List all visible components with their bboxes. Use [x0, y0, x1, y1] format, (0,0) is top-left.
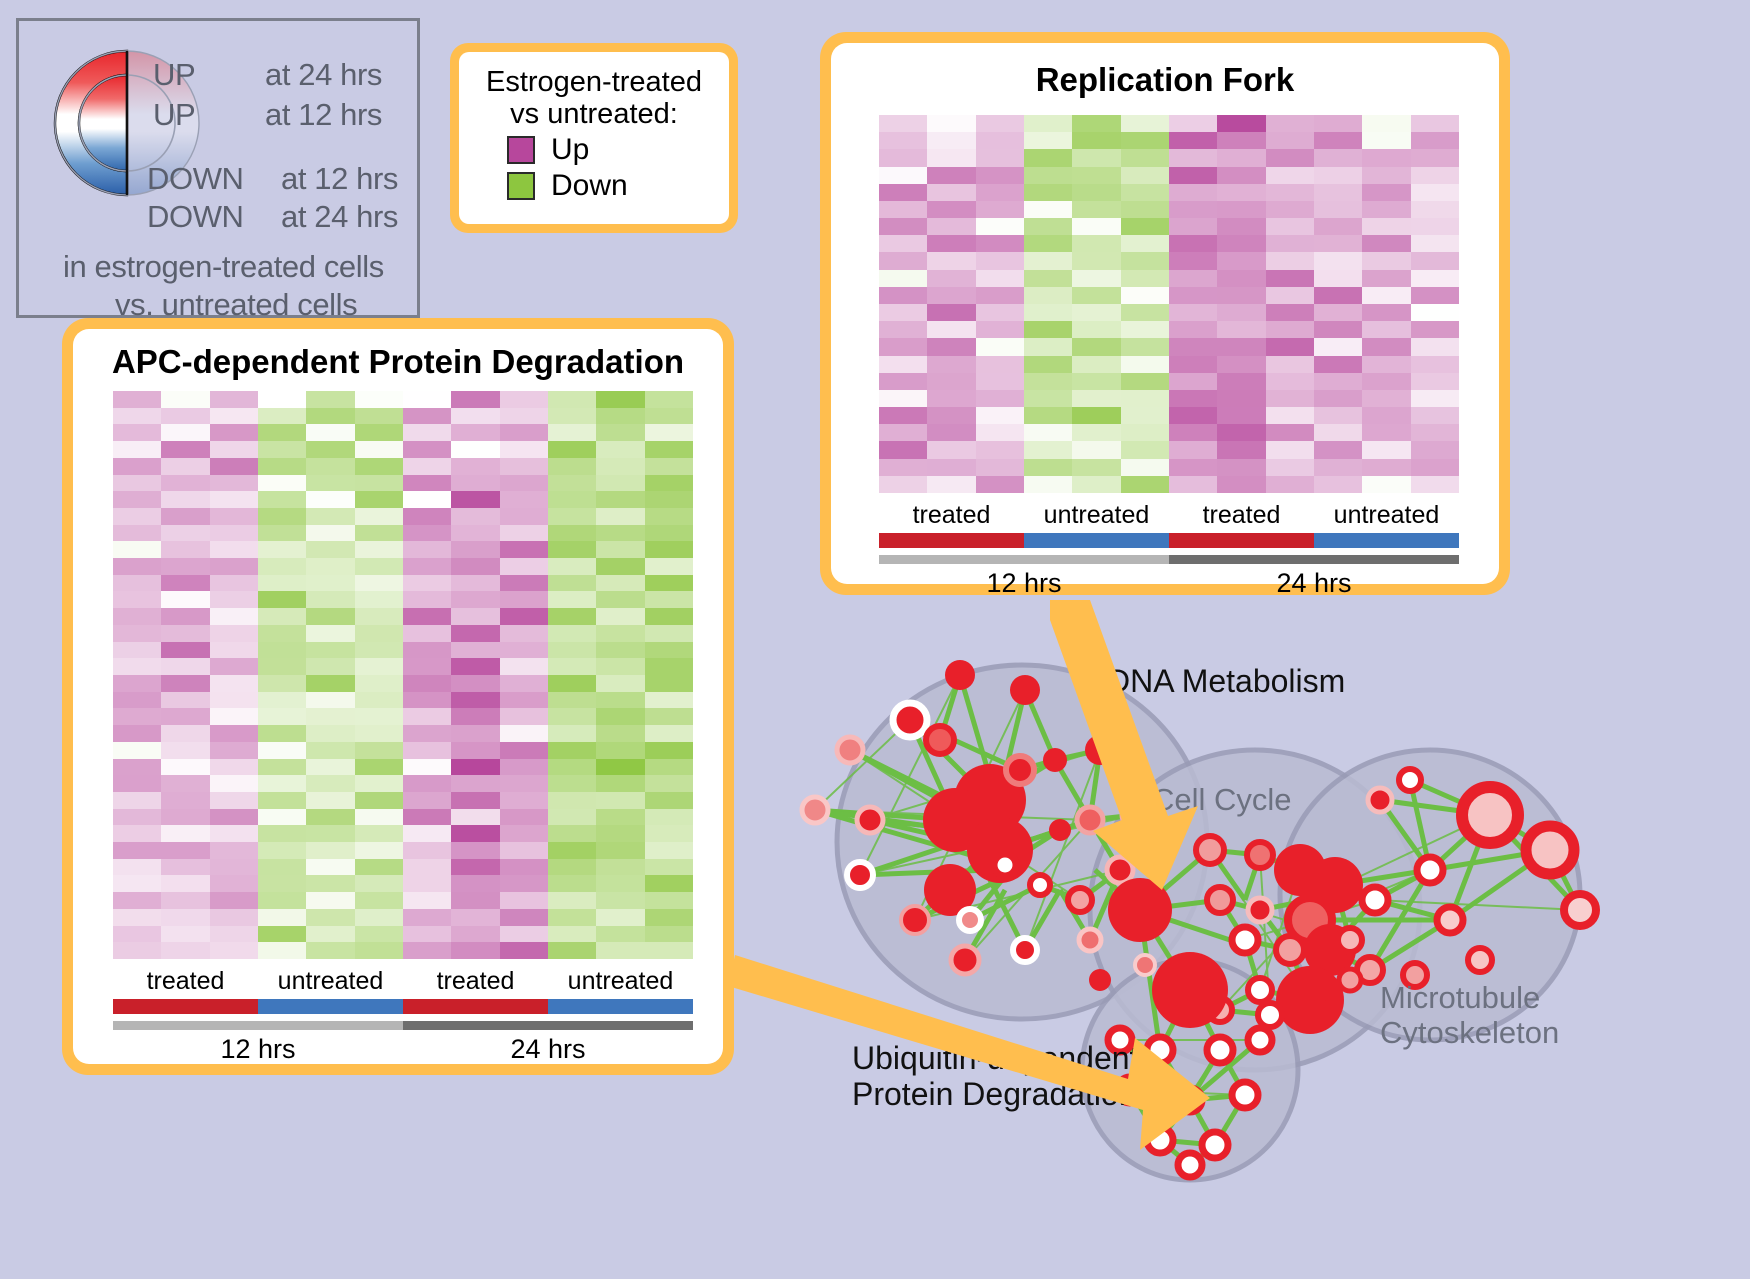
heat-cell: [451, 558, 499, 575]
heat-cell: [258, 692, 306, 709]
heat-cell: [879, 218, 927, 235]
heat-cell: [1217, 270, 1265, 287]
heat-cell: [403, 591, 451, 608]
heat-cell: [113, 909, 161, 926]
heat-cell: [113, 926, 161, 943]
apc-time-12: [113, 1021, 403, 1030]
replication-fork-panel: Replication Fork treated untreated treat…: [820, 32, 1510, 595]
heat-cell: [1411, 287, 1459, 304]
heat-cell: [500, 675, 548, 692]
heat-cell: [161, 792, 209, 809]
heat-cell: [548, 424, 596, 441]
heat-cell: [113, 725, 161, 742]
heat-cell: [451, 642, 499, 659]
heat-cell: [645, 491, 693, 508]
heat-cell: [1169, 441, 1217, 458]
heat-cell: [548, 458, 596, 475]
heat-cell: [1411, 459, 1459, 476]
apc-condition-bar: [113, 999, 693, 1014]
heat-cell: [306, 875, 354, 892]
heat-cell: [355, 725, 403, 742]
heat-cell: [1072, 356, 1120, 373]
heat-cell: [927, 167, 975, 184]
heat-cell: [1121, 459, 1169, 476]
heat-cell: [403, 541, 451, 558]
heat-cell: [258, 424, 306, 441]
replication-fork-annotation: treated untreated treated untreated 12 h…: [879, 501, 1459, 599]
heat-cell: [355, 575, 403, 592]
heat-cell: [976, 424, 1024, 441]
heat-cell: [113, 391, 161, 408]
heat-cell: [306, 926, 354, 943]
heat-cell: [596, 742, 644, 759]
heat-cell: [355, 675, 403, 692]
heat-cell: [1362, 373, 1410, 390]
heat-cell: [548, 575, 596, 592]
heat-cell: [1072, 459, 1120, 476]
heat-cell: [596, 391, 644, 408]
heat-cell: [1362, 149, 1410, 166]
apc-sample-label-0: treated: [113, 967, 258, 996]
heat-cell: [1169, 321, 1217, 338]
heat-cell: [548, 475, 596, 492]
heat-cell: [1266, 356, 1314, 373]
heat-cell: [548, 926, 596, 943]
heat-cell: [210, 742, 258, 759]
heat-cell: [500, 775, 548, 792]
heat-cell: [210, 591, 258, 608]
heat-cell: [403, 441, 451, 458]
heat-cell: [403, 825, 451, 842]
heat-cell: [113, 625, 161, 642]
heat-cell: [451, 775, 499, 792]
heat-cell: [548, 842, 596, 859]
heat-cell: [306, 942, 354, 959]
heat-cell: [1362, 321, 1410, 338]
heat-cell: [161, 708, 209, 725]
heat-cell: [355, 491, 403, 508]
apc-time-label-24: 24 hrs: [403, 1034, 693, 1065]
heat-cell: [596, 892, 644, 909]
heat-cell: [1362, 356, 1410, 373]
heat-cell: [355, 525, 403, 542]
heat-cell: [645, 642, 693, 659]
heat-cell: [210, 575, 258, 592]
heat-cell: [210, 658, 258, 675]
heat-cell: [403, 775, 451, 792]
heat-cell: [306, 775, 354, 792]
apc-sample-label-3: untreated: [548, 967, 693, 996]
heat-cell: [258, 658, 306, 675]
apc-sample-labels: treated untreated treated untreated: [113, 967, 693, 996]
heat-cell: [355, 759, 403, 776]
heat-cell: [113, 591, 161, 608]
heat-cell: [1411, 201, 1459, 218]
heat-cell: [548, 491, 596, 508]
heat-cell: [1024, 441, 1072, 458]
heat-cell: [258, 825, 306, 842]
heat-cell: [258, 859, 306, 876]
heat-cell: [976, 235, 1024, 252]
heat-cell: [1121, 287, 1169, 304]
heat-cell: [1217, 459, 1265, 476]
heat-cell: [451, 408, 499, 425]
heat-cell: [451, 441, 499, 458]
heat-cell: [645, 475, 693, 492]
apc-annotation: treated untreated treated untreated 12 h…: [113, 967, 693, 1065]
heat-cell: [500, 575, 548, 592]
heat-cell: [161, 608, 209, 625]
heat-cell: [1411, 252, 1459, 269]
heat-cell: [596, 842, 644, 859]
heat-cell: [306, 909, 354, 926]
heat-cell: [403, 508, 451, 525]
heat-cell: [210, 759, 258, 776]
heat-cell: [927, 476, 975, 493]
heat-cell: [1314, 252, 1362, 269]
heat-cell: [1072, 390, 1120, 407]
heat-cell: [927, 270, 975, 287]
rf-time-label-12: 12 hrs: [879, 568, 1169, 599]
heat-cell: [1266, 201, 1314, 218]
heat-cell: [161, 625, 209, 642]
heat-cell: [1411, 424, 1459, 441]
heat-cell: [451, 575, 499, 592]
heat-cell: [451, 591, 499, 608]
heat-cell: [596, 675, 644, 692]
heat-cell: [403, 926, 451, 943]
cluster-label-dna-metabolism: DNA Metabolism: [1107, 663, 1345, 699]
heat-cell: [1072, 407, 1120, 424]
heat-cell: [1072, 252, 1120, 269]
heat-cell: [451, 692, 499, 709]
heat-cell: [451, 792, 499, 809]
heat-cell: [161, 642, 209, 659]
heat-cell: [210, 809, 258, 826]
heat-cell: [927, 459, 975, 476]
heat-cell: [355, 859, 403, 876]
heat-cell: [976, 184, 1024, 201]
heat-cell: [258, 809, 306, 826]
heat-cell: [258, 775, 306, 792]
legend-time-24: at 24 hrs: [265, 57, 382, 93]
heat-cell: [1362, 287, 1410, 304]
heat-cell: [1314, 270, 1362, 287]
heat-cell: [548, 742, 596, 759]
heat-cell: [976, 373, 1024, 390]
heat-cell: [1266, 390, 1314, 407]
heat-cell: [1121, 201, 1169, 218]
heat-cell: [258, 491, 306, 508]
heat-cell: [500, 725, 548, 742]
heat-cell: [500, 942, 548, 959]
heat-cell: [596, 642, 644, 659]
heat-cell: [1169, 407, 1217, 424]
heat-cell: [210, 608, 258, 625]
heat-cell: [451, 608, 499, 625]
heat-cell: [258, 759, 306, 776]
heat-cell: [306, 458, 354, 475]
apc-time-label-12: 12 hrs: [113, 1034, 403, 1065]
heat-cell: [403, 391, 451, 408]
heat-cell: [1024, 338, 1072, 355]
heat-cell: [1024, 321, 1072, 338]
heat-cell: [879, 132, 927, 149]
heat-cell: [306, 809, 354, 826]
heat-cell: [113, 942, 161, 959]
heat-cell: [258, 792, 306, 809]
heat-cell: [1266, 149, 1314, 166]
heat-cell: [1411, 390, 1459, 407]
heat-cell: [596, 759, 644, 776]
heat-cell: [645, 525, 693, 542]
heat-cell: [113, 642, 161, 659]
heat-cell: [1362, 304, 1410, 321]
heat-cell: [879, 149, 927, 166]
heat-cell: [161, 859, 209, 876]
heat-cell: [1072, 321, 1120, 338]
heat-cell: [1217, 304, 1265, 321]
heat-cell: [355, 424, 403, 441]
heat-cell: [1024, 407, 1072, 424]
heat-cell: [258, 725, 306, 742]
heat-cell: [1362, 201, 1410, 218]
heat-cell: [258, 508, 306, 525]
heat-cell: [548, 875, 596, 892]
heat-cell: [210, 675, 258, 692]
heat-cell: [355, 708, 403, 725]
heat-cell: [879, 235, 927, 252]
heat-cell: [306, 441, 354, 458]
rf-cond-treated-24: [1169, 533, 1314, 548]
heat-cell: [113, 475, 161, 492]
heat-cell: [210, 926, 258, 943]
heat-cell: [548, 675, 596, 692]
heat-cell: [355, 892, 403, 909]
heat-cell: [927, 441, 975, 458]
heat-cell: [500, 658, 548, 675]
heat-cell: [355, 792, 403, 809]
heat-cell: [113, 892, 161, 909]
heat-cell: [645, 825, 693, 842]
heat-cell: [210, 842, 258, 859]
up-label: Up: [551, 133, 589, 167]
heat-cell: [548, 441, 596, 458]
heat-cell: [1266, 459, 1314, 476]
heat-cell: [1266, 132, 1314, 149]
heat-cell: [1314, 321, 1362, 338]
heat-cell: [1217, 373, 1265, 390]
heat-cell: [403, 458, 451, 475]
heat-cell: [1121, 321, 1169, 338]
apc-time-24: [403, 1021, 693, 1030]
heat-cell: [1314, 304, 1362, 321]
heat-cell: [500, 825, 548, 842]
heat-cell: [1362, 132, 1410, 149]
heat-cell: [976, 407, 1024, 424]
heat-cell: [258, 625, 306, 642]
heat-cell: [1024, 356, 1072, 373]
heat-cell: [596, 658, 644, 675]
heat-cell: [500, 892, 548, 909]
heat-cell: [161, 575, 209, 592]
heat-cell: [306, 525, 354, 542]
heat-cell: [1266, 270, 1314, 287]
heat-cell: [306, 475, 354, 492]
heat-cell: [548, 642, 596, 659]
heat-cell: [548, 909, 596, 926]
heat-cell: [403, 558, 451, 575]
heat-cell: [451, 909, 499, 926]
heat-cell: [927, 252, 975, 269]
heat-cell: [161, 725, 209, 742]
heat-cell: [1217, 321, 1265, 338]
heat-cell: [258, 742, 306, 759]
heat-cell: [355, 775, 403, 792]
heat-cell: [210, 909, 258, 926]
heat-cell: [596, 591, 644, 608]
heat-cell: [306, 792, 354, 809]
heat-cell: [1121, 218, 1169, 235]
heat-cell: [1072, 304, 1120, 321]
heat-cell: [927, 338, 975, 355]
heat-cell: [355, 742, 403, 759]
heat-cell: [451, 842, 499, 859]
heat-cell: [500, 809, 548, 826]
heat-cell: [1072, 218, 1120, 235]
heat-cell: [596, 525, 644, 542]
heat-cell: [113, 525, 161, 542]
heat-cell: [927, 373, 975, 390]
down-label: Down: [551, 169, 628, 203]
apc-cond-untreated-24: [548, 999, 693, 1014]
heat-cell: [258, 475, 306, 492]
heat-cell: [1411, 218, 1459, 235]
heat-cell: [927, 424, 975, 441]
apc-degradation-panel: APC-dependent Protein Degradation treate…: [62, 318, 734, 1075]
heat-cell: [258, 458, 306, 475]
heat-cell: [451, 475, 499, 492]
heat-cell: [1217, 424, 1265, 441]
heat-cell: [1024, 184, 1072, 201]
heat-cell: [976, 149, 1024, 166]
heat-cell: [976, 287, 1024, 304]
heat-cell: [210, 775, 258, 792]
heat-cell: [596, 558, 644, 575]
heat-cell: [976, 304, 1024, 321]
heat-cell: [927, 184, 975, 201]
heat-cell: [1266, 407, 1314, 424]
heat-cell: [1024, 235, 1072, 252]
heat-cell: [645, 608, 693, 625]
heat-cell: [500, 642, 548, 659]
heat-cell: [500, 692, 548, 709]
heat-cell: [1411, 321, 1459, 338]
heat-cell: [161, 508, 209, 525]
heat-cell: [258, 558, 306, 575]
heat-cell: [403, 892, 451, 909]
heat-cell: [548, 525, 596, 542]
heat-cell: [210, 875, 258, 892]
heat-cell: [645, 441, 693, 458]
heat-cell: [1266, 304, 1314, 321]
updown-legend-title: Estrogen-treated vs untreated:: [486, 66, 702, 131]
heat-cell: [1411, 441, 1459, 458]
heat-cell: [355, 508, 403, 525]
heat-cell: [1072, 287, 1120, 304]
heat-cell: [976, 356, 1024, 373]
heat-cell: [645, 842, 693, 859]
heat-cell: [645, 658, 693, 675]
heat-cell: [927, 390, 975, 407]
heat-cell: [451, 525, 499, 542]
heat-cell: [1314, 167, 1362, 184]
heat-cell: [645, 942, 693, 959]
heat-cell: [1217, 149, 1265, 166]
cluster-label-cell-cycle: Cell Cycle: [1152, 782, 1292, 817]
heat-cell: [1121, 132, 1169, 149]
heat-cell: [645, 391, 693, 408]
heat-cell: [879, 287, 927, 304]
heat-cell: [210, 892, 258, 909]
heat-cell: [645, 558, 693, 575]
heat-cell: [596, 491, 644, 508]
heat-cell: [1169, 356, 1217, 373]
heat-cell: [1024, 252, 1072, 269]
heat-cell: [451, 875, 499, 892]
heat-cell: [548, 809, 596, 826]
heat-cell: [1217, 407, 1265, 424]
heat-cell: [1024, 149, 1072, 166]
heat-cell: [1121, 441, 1169, 458]
heat-cell: [1072, 270, 1120, 287]
heat-cell: [1411, 149, 1459, 166]
legend-state-down-24: DOWN: [147, 199, 244, 235]
heat-cell: [113, 875, 161, 892]
apc-heatmap: [113, 391, 693, 959]
heat-cell: [596, 809, 644, 826]
heat-cell: [645, 892, 693, 909]
heat-cell: [1314, 184, 1362, 201]
heat-cell: [113, 742, 161, 759]
heat-cell: [1217, 201, 1265, 218]
heat-cell: [161, 525, 209, 542]
heat-cell: [1362, 115, 1410, 132]
heat-cell: [355, 909, 403, 926]
heat-cell: [879, 441, 927, 458]
heat-cell: [1169, 476, 1217, 493]
heat-cell: [403, 491, 451, 508]
heat-cell: [596, 458, 644, 475]
heat-cell: [306, 842, 354, 859]
heat-cell: [113, 658, 161, 675]
heat-cell: [1169, 167, 1217, 184]
heat-cell: [1169, 459, 1217, 476]
heat-cell: [451, 859, 499, 876]
heat-cell: [596, 508, 644, 525]
heat-cell: [500, 842, 548, 859]
heat-cell: [161, 892, 209, 909]
heat-cell: [1121, 270, 1169, 287]
heat-cell: [1072, 201, 1120, 218]
heat-cell: [355, 809, 403, 826]
heat-cell: [306, 391, 354, 408]
heat-cell: [1362, 424, 1410, 441]
heat-cell: [161, 591, 209, 608]
heat-cell: [548, 859, 596, 876]
heat-cell: [258, 675, 306, 692]
updown-title-line-2: vs untreated:: [486, 98, 702, 130]
